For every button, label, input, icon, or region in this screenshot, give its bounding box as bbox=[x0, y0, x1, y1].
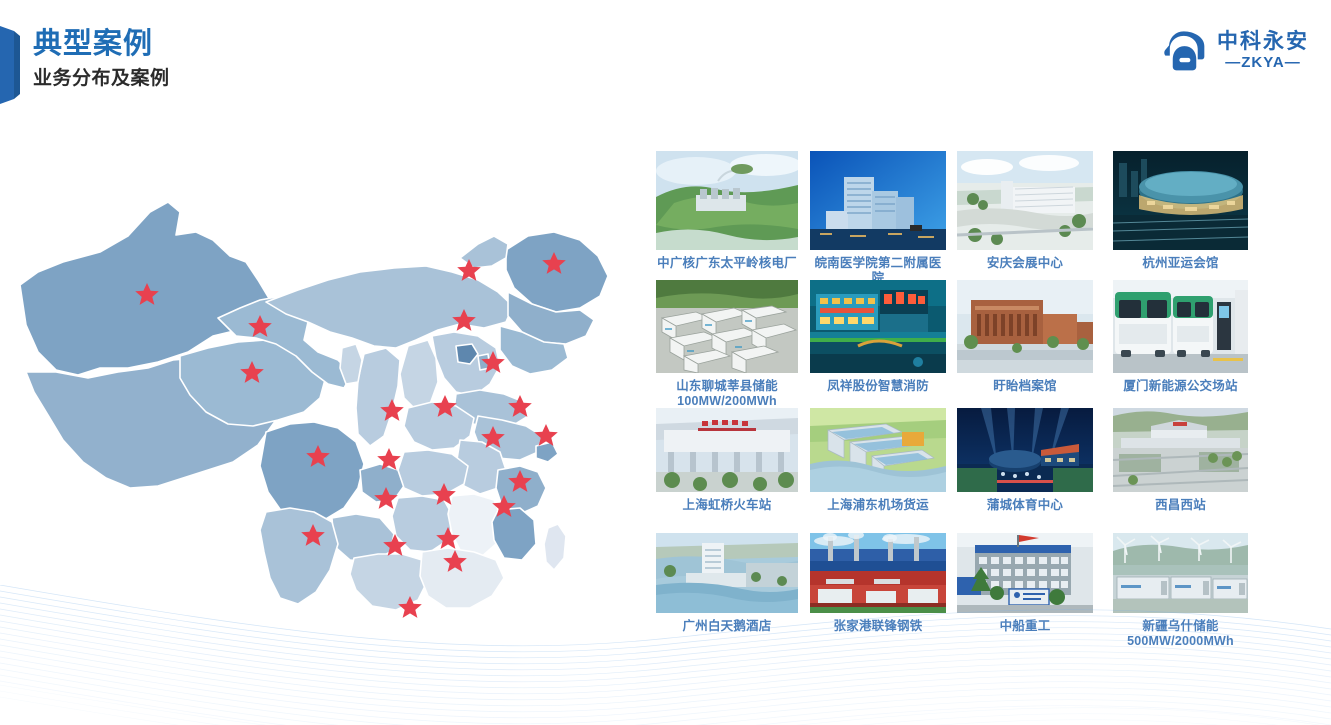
case-card[interactable]: 上海浦东机场货运 bbox=[810, 408, 946, 513]
case-label: 中广核广东太平岭核电厂 bbox=[656, 256, 798, 271]
xichang-west-station bbox=[1113, 408, 1248, 492]
case-card[interactable]: 中船重工 bbox=[957, 533, 1093, 634]
case-grid: 中广核广东太平岭核电厂 bbox=[650, 145, 1260, 640]
province-guangdong bbox=[420, 548, 504, 608]
province-ningxia bbox=[340, 344, 362, 384]
case-card[interactable]: 盱眙档案馆 bbox=[957, 280, 1093, 394]
airport-cargo-aerial bbox=[810, 408, 946, 492]
case-label: 上海虹桥火车站 bbox=[656, 498, 798, 513]
logo-name-en: —ZKYA— bbox=[1225, 55, 1300, 70]
battery-storage-containers bbox=[656, 280, 798, 373]
case-card[interactable]: 广州白天鹅酒店 bbox=[656, 533, 798, 634]
case-card[interactable]: 张家港联锋钢铁 bbox=[810, 533, 946, 634]
helmet-icon bbox=[1161, 27, 1208, 74]
case-card[interactable]: 凤祥股份智慧消防 bbox=[810, 280, 946, 394]
electric-bus-depot bbox=[1113, 280, 1248, 373]
province-shanxi bbox=[400, 340, 438, 410]
wind-storage-containers bbox=[1113, 533, 1248, 613]
china-map-svg bbox=[8, 140, 628, 640]
case-label: 张家港联锋钢铁 bbox=[810, 619, 946, 634]
factory-campus-night bbox=[810, 280, 946, 373]
case-card[interactable]: 安庆会展中心 bbox=[957, 151, 1093, 271]
case-label: 山东聊城莘县储能 100MW/200MWh bbox=[656, 379, 798, 409]
white-swan-hotel-riverside bbox=[656, 533, 798, 613]
province-yunnan bbox=[260, 508, 338, 604]
slide-root: 典型案例 业务分布及案例 中科永安 —ZKYA— bbox=[0, 0, 1331, 725]
province-fujian bbox=[492, 508, 536, 560]
case-label: 凤祥股份智慧消防 bbox=[810, 379, 946, 394]
case-card[interactable]: 新疆乌什储能 500MW/2000MWh bbox=[1113, 533, 1248, 649]
case-card[interactable]: 上海虹桥火车站 bbox=[656, 408, 798, 513]
archive-building bbox=[957, 280, 1093, 373]
china-map[interactable] bbox=[8, 140, 628, 640]
province-taiwan bbox=[544, 524, 566, 570]
case-card[interactable]: 杭州亚运会馆 bbox=[1113, 151, 1248, 271]
case-label: 蒲城体育中心 bbox=[957, 498, 1093, 513]
expo-center-aerial bbox=[957, 151, 1093, 250]
case-label: 新疆乌什储能 500MW/2000MWh bbox=[1113, 619, 1248, 649]
page-subtitle: 业务分布及案例 bbox=[33, 68, 170, 91]
case-card[interactable]: 蒲城体育中心 bbox=[957, 408, 1093, 513]
case-label: 中船重工 bbox=[957, 619, 1093, 634]
case-label: 广州白天鹅酒店 bbox=[656, 619, 798, 634]
case-label: 上海浦东机场货运 bbox=[810, 498, 946, 513]
case-card[interactable]: 西昌西站 bbox=[1113, 408, 1248, 513]
case-card[interactable]: 皖南医学院第二附属医院 bbox=[810, 151, 946, 286]
csic-office-building bbox=[957, 533, 1093, 613]
hospital-building-dusk bbox=[810, 151, 946, 250]
province-sichuan bbox=[260, 422, 364, 522]
province-guangxi bbox=[350, 554, 428, 610]
case-label: 西昌西站 bbox=[1113, 498, 1248, 513]
case-label: 盱眙档案馆 bbox=[957, 379, 1093, 394]
case-card[interactable]: 厦门新能源公交场站 bbox=[1113, 280, 1248, 394]
sports-center-night bbox=[957, 408, 1093, 492]
asian-games-arena-night bbox=[1113, 151, 1248, 250]
brand-logo: 中科永安 —ZKYA— bbox=[1161, 27, 1309, 74]
province-shaanxi bbox=[356, 348, 400, 446]
case-label: 安庆会展中心 bbox=[957, 256, 1093, 271]
title-accent-bar bbox=[0, 26, 20, 104]
page-title: 典型案例 bbox=[33, 28, 153, 61]
case-card[interactable]: 山东聊城莘县储能 100MW/200MWh bbox=[656, 280, 798, 409]
case-label: 厦门新能源公交场站 bbox=[1113, 379, 1248, 394]
nuclear-plant-aerial bbox=[656, 151, 798, 250]
case-label: 杭州亚运会馆 bbox=[1113, 256, 1248, 271]
hongqiao-railway-station bbox=[656, 408, 798, 492]
logo-name-cn: 中科永安 bbox=[1217, 31, 1309, 52]
steel-plant-aerial bbox=[810, 533, 946, 613]
case-card[interactable]: 中广核广东太平岭核电厂 bbox=[656, 151, 798, 271]
